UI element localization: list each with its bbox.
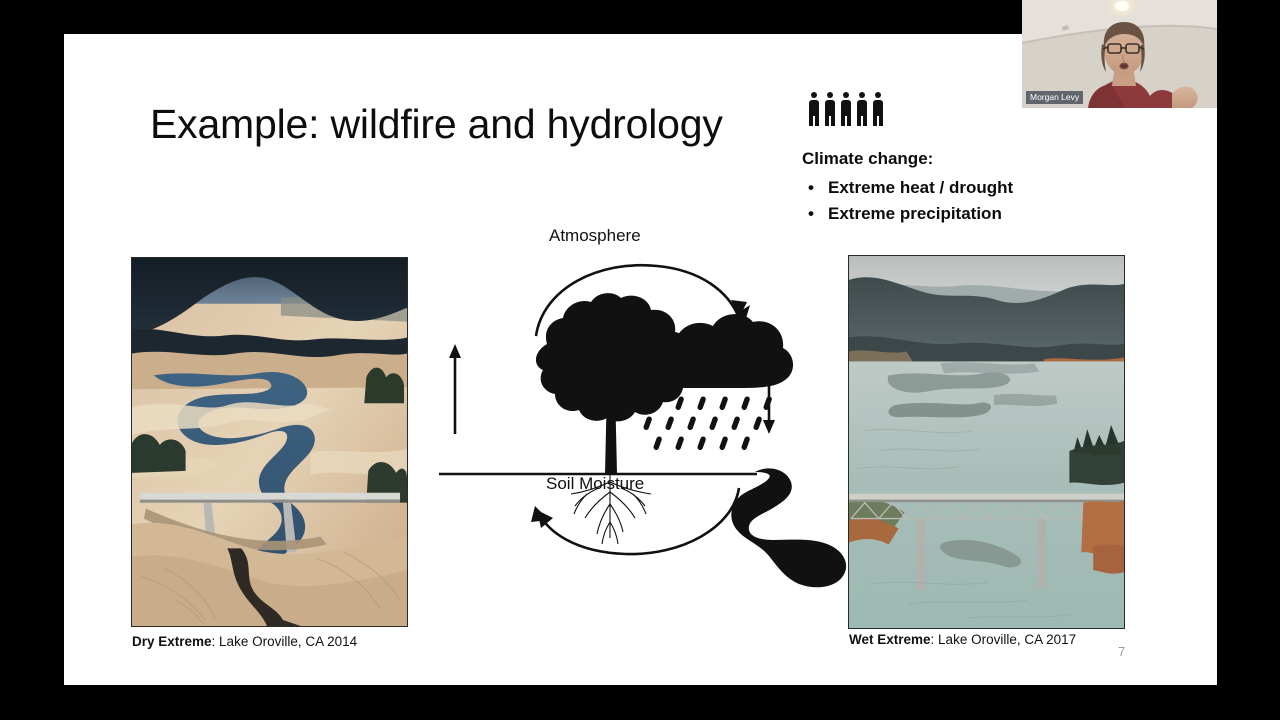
bullet-glyph: • xyxy=(808,175,818,201)
climate-bullet-list: • Extreme heat / drought • Extreme preci… xyxy=(802,175,1102,228)
person-icon xyxy=(872,92,884,126)
slide-title: Example: wildfire and hydrology xyxy=(150,103,723,146)
climate-change-block: Climate change: • Extreme heat / drought… xyxy=(802,146,1102,227)
photo-dry-extreme xyxy=(131,257,408,627)
presentation-slide: Example: wildfire and hydrology Climate … xyxy=(64,34,1217,685)
caption-label-bold: Wet Extreme xyxy=(849,632,931,647)
list-item-label: Extreme precipitation xyxy=(828,201,1002,227)
river-icon xyxy=(731,468,846,587)
webcam-tile[interactable]: Morgan Levy xyxy=(1022,0,1217,108)
participant-name-label: Morgan Levy xyxy=(1026,91,1083,104)
diagram-label-soil-moisture: Soil Moisture xyxy=(546,474,644,494)
diagram-label-atmosphere: Atmosphere xyxy=(549,226,641,246)
water-cycle-diagram: Atmosphere Soil Moisture xyxy=(439,226,859,571)
caption-label-bold: Dry Extreme xyxy=(132,634,212,649)
person-icon xyxy=(808,92,820,126)
caption-label-rest: : Lake Oroville, CA 2014 xyxy=(212,634,358,649)
list-item-label: Extreme heat / drought xyxy=(828,175,1013,201)
caption-wet-extreme: Wet Extreme: Lake Oroville, CA 2017 xyxy=(849,632,1076,647)
caption-dry-extreme: Dry Extreme: Lake Oroville, CA 2014 xyxy=(132,634,357,649)
photo-wet-extreme xyxy=(848,255,1125,629)
bullet-glyph: • xyxy=(808,201,818,227)
list-item: • Extreme heat / drought xyxy=(802,175,1102,201)
climate-heading: Climate change: xyxy=(802,146,1102,172)
people-pictogram-group xyxy=(808,92,884,126)
caption-label-rest: : Lake Oroville, CA 2017 xyxy=(931,632,1077,647)
list-item: • Extreme precipitation xyxy=(802,201,1102,227)
video-frame: Example: wildfire and hydrology Climate … xyxy=(0,0,1280,720)
person-icon xyxy=(856,92,868,126)
person-icon xyxy=(824,92,836,126)
slide-number: 7 xyxy=(1118,644,1125,659)
person-icon xyxy=(840,92,852,126)
